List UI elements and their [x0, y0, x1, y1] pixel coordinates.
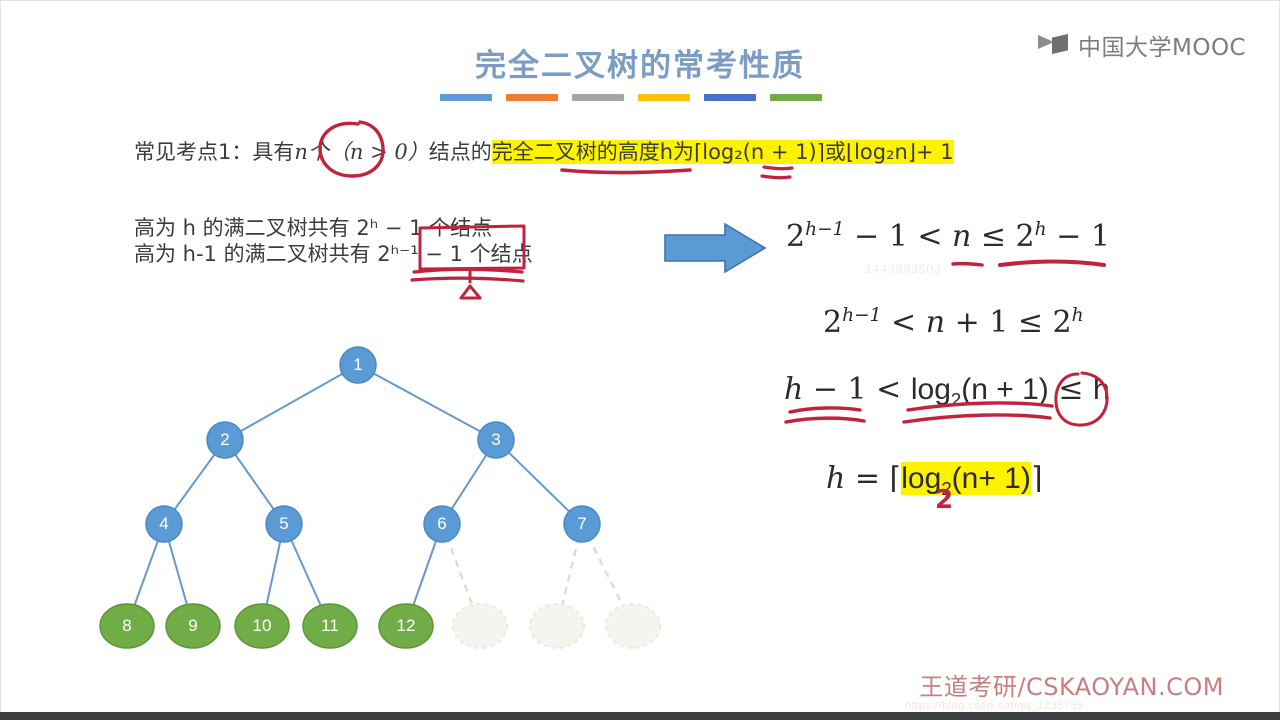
- rule-seg-4: [638, 94, 690, 101]
- key-point-prefix: 常见考点1：具有: [134, 140, 294, 164]
- tree-node[interactable]: [424, 506, 460, 542]
- tree-graphics: [80, 330, 700, 660]
- watermark-middle: 1443893503: [865, 262, 942, 276]
- right-arrow-icon: [663, 222, 767, 274]
- tree-node[interactable]: [478, 422, 514, 458]
- tree-node[interactable]: [207, 422, 243, 458]
- tree-node[interactable]: [530, 604, 584, 648]
- equation-2: 2h−1 < n + 1 ≤ 2h: [823, 305, 1084, 340]
- equation-1: 2h−1 − 1 < n ≤ 2h − 1: [786, 219, 1110, 254]
- tree-node[interactable]: [266, 506, 302, 542]
- tree-node[interactable]: [166, 604, 220, 648]
- rule-seg-6: [770, 94, 822, 101]
- tree-edge: [358, 365, 496, 440]
- tree-node[interactable]: [303, 604, 357, 648]
- key-point-line: 常见考点1：具有n个（n > 0）结点的完全二叉树的高度h为⌈log₂(n + …: [134, 136, 954, 166]
- rule-seg-2: [506, 94, 558, 101]
- tree-node[interactable]: [379, 604, 433, 648]
- slide-canvas: 中国大学MOOC 完全二叉树的常考性质 常见考点1：具有n个（n > 0）结点的…: [0, 0, 1280, 720]
- tree-node[interactable]: [146, 506, 182, 542]
- bottom-bar: [0, 712, 1280, 720]
- tree-node[interactable]: [564, 506, 600, 542]
- rule-seg-5: [704, 94, 756, 101]
- key-point-n-count: n个: [294, 140, 329, 164]
- tree-edge: [225, 365, 358, 440]
- footer-brand: 王道考研/CSKAOYAN.COM: [919, 667, 1224, 702]
- full-tree-h1-line: 高为 h-1 的满二叉树共有 2ʰ⁻¹ − 1 个结点: [134, 238, 533, 268]
- tree-node[interactable]: [340, 347, 376, 383]
- tree-node[interactable]: [100, 604, 154, 648]
- key-point-highlight: 完全二叉树的高度h为⌈log₂(n + 1)⌉或⌊log₂n⌋+ 1: [492, 140, 954, 164]
- page-title: 完全二叉树的常考性质: [0, 40, 1280, 85]
- title-underline-rule: [440, 94, 822, 101]
- binary-tree-diagram: 123456789101112131415: [80, 330, 700, 660]
- rule-seg-1: [440, 94, 492, 101]
- equation-4: h = ⌈log2(n+ 1)⌉: [826, 461, 1043, 500]
- equation-3: h − 1 < log2(n + 1) ≤ h: [784, 372, 1110, 411]
- rule-seg-3: [572, 94, 624, 101]
- tree-node[interactable]: [606, 604, 660, 648]
- tree-node[interactable]: [235, 604, 289, 648]
- tree-node[interactable]: [453, 604, 507, 648]
- key-point-condition: （n > 0）: [329, 140, 429, 164]
- key-point-mid: 结点的: [429, 140, 492, 164]
